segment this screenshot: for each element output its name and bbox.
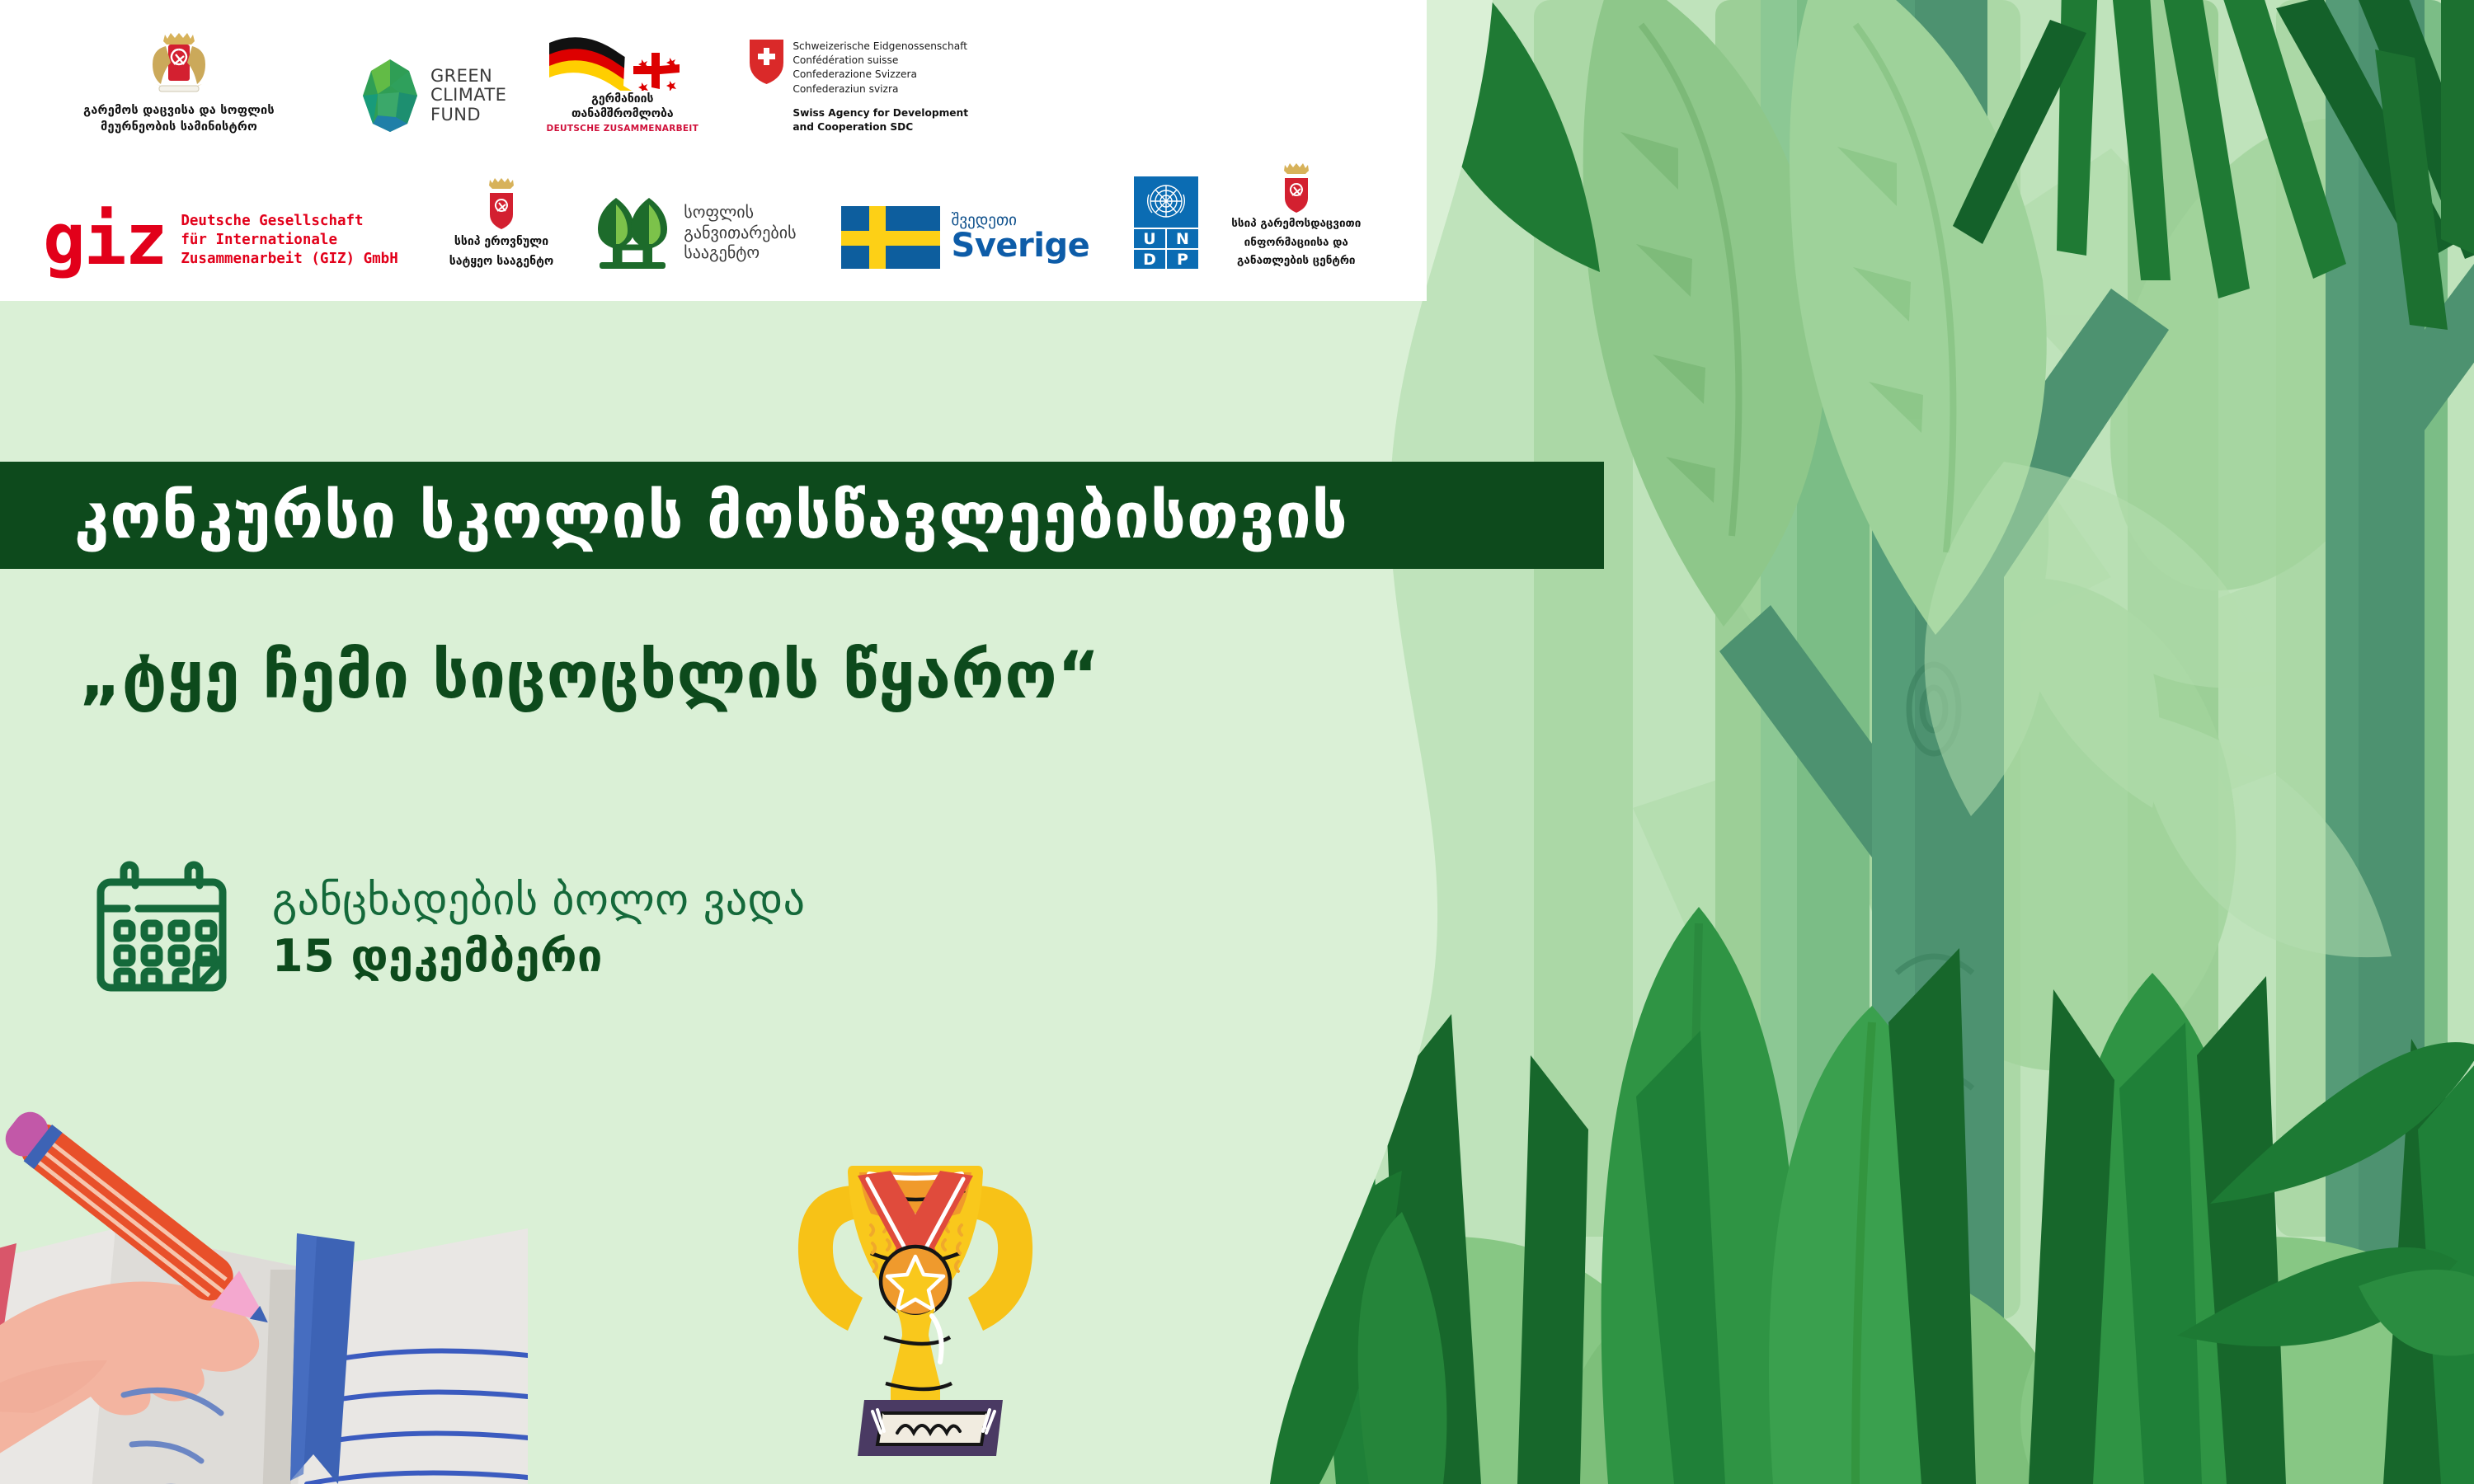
svg-text:U: U — [1144, 230, 1156, 248]
gcf-line3: FUND — [430, 106, 506, 125]
giz-line1: Deutsche Gesellschaft — [181, 212, 397, 231]
georgia-crest-small-icon — [1280, 162, 1313, 213]
deadline-label: განცხადების ბოლო ვადა — [272, 876, 806, 925]
swiss-line4: Confederaziun svizra — [793, 82, 968, 96]
swiss-line3: Confederazione Svizzera — [793, 68, 968, 82]
green-gem-icon — [360, 58, 421, 134]
logo-row-2: giz Deutsche Gesellschaft für Internatio… — [43, 162, 1361, 269]
svg-text:D: D — [1143, 251, 1156, 269]
logo-undp: UN DP — [1134, 176, 1198, 269]
georgia-coat-of-arms-icon — [143, 26, 215, 101]
rda-line3: სააგენტო — [684, 242, 796, 262]
sdc-line2: and Cooperation SDC — [793, 120, 968, 134]
rda-line1: სოფლის — [684, 202, 796, 222]
rda-line2: განვითარების — [684, 223, 796, 242]
ministry-label-line2: მეურნეობის სამინისტრო — [101, 120, 257, 134]
logo-swiss-confederation: Schweizerische Eidgenossenschaft Confédé… — [750, 40, 968, 134]
giz-line3: Zusammenarbeit (GIZ) GmbH — [181, 250, 397, 269]
logo-ministry-of-environmental-protection: გარემოს დაცვისა და სოფლის მეურნეობის სამ… — [43, 26, 315, 134]
giz-wordmark: giz — [43, 212, 166, 269]
gcf-line2: CLIMATE — [430, 86, 506, 106]
eiec-line2: ინფორმაციისა და — [1244, 236, 1348, 251]
logo-rural-development-agency: სოფლის განვითარების სააგენტო — [595, 196, 796, 269]
nfa-line2: სატყეო სააგენტო — [449, 254, 554, 269]
german-coop-subtitle: DEUTSCHE ZUSAMMENARBEIT — [547, 124, 699, 134]
trees-house-icon — [595, 196, 670, 269]
swedish-flag-icon — [841, 206, 940, 269]
german-georgian-flag-wave-icon — [546, 31, 698, 91]
german-coop-line2: თანამშრომლობა — [571, 107, 674, 121]
swiss-line1: Schweizerische Eidgenossenschaft — [793, 40, 968, 54]
logo-german-cooperation: გერმანიის თანამშრომლობა DEUTSCHE ZUSAMME… — [546, 31, 698, 134]
logo-national-forestry-agency: სსიპ ეროვნული სატყეო სააგენტო — [449, 176, 554, 269]
eiec-line3: განათლების ცენტრი — [1237, 254, 1356, 269]
contest-theme-subtitle: „ტყე ჩემი სიცოცხლის წყარო“ — [79, 639, 1100, 713]
headline-band: კონკურსი სკოლის მოსწავლეებისთვის — [0, 462, 1604, 569]
swiss-line2: Confédération suisse — [793, 54, 968, 68]
rda-name: სოფლის განვითარების სააგენტო — [684, 202, 796, 262]
giz-fullname: Deutsche Gesellschaft für Internationale… — [181, 212, 397, 269]
sverige-wordmark: Sverige — [952, 228, 1090, 263]
georgia-crest-small-icon — [484, 176, 519, 229]
nfa-line1: სსიპ ეროვნული — [454, 234, 548, 249]
partner-logo-bar: გარემოს დაცვისა და სოფლის მეურნეობის სამ… — [0, 0, 1427, 301]
german-coop-line1: გერმანიის — [591, 92, 653, 106]
svg-text:N: N — [1176, 230, 1189, 248]
deadline-date: 15 დეკემბერი — [272, 930, 806, 982]
calendar-icon — [91, 857, 233, 999]
poster-canvas: გარემოს დაცვისა და სოფლის მეურნეობის სამ… — [0, 0, 2474, 1484]
logo-environmental-information-education-centre: სსიპ გარემოსდაცვითი ინფორმაციისა და განა… — [1231, 162, 1361, 269]
logo-giz: giz Deutsche Gesellschaft für Internatio… — [43, 212, 398, 269]
swiss-shield-icon — [750, 40, 783, 84]
eiec-line1: სსიპ გარემოსდაცვითი — [1231, 217, 1361, 232]
trophy-illustration — [767, 1146, 1064, 1484]
deadline-block: განცხადების ბოლო ვადა 15 დეკემბერი — [91, 857, 806, 999]
svg-text:P: P — [1177, 251, 1188, 269]
logo-sweden: შვედეთი Sverige — [841, 206, 1090, 269]
gcf-line1: GREEN — [430, 67, 506, 87]
gcf-wordmark: GREEN CLIMATE FUND — [430, 67, 506, 125]
ministry-label-line1: გარემოს დაცვისა და სოფლის — [83, 104, 275, 117]
hand-writing-notebook-illustration — [0, 1022, 528, 1484]
giz-line2: für Internationale — [181, 231, 397, 250]
sdc-line1: Swiss Agency for Development — [793, 106, 968, 120]
logo-green-climate-fund: GREEN CLIMATE FUND — [360, 58, 506, 134]
un-emblem-icon: UN DP — [1134, 176, 1198, 269]
logo-row-1: გარემოს დაცვისა და სოფლის მეურნეობის სამ… — [43, 10, 968, 134]
page-title: კონკურსი სკოლის მოსწავლეებისთვის — [74, 479, 1348, 552]
sweden-georgian-label: შვედეთი — [952, 213, 1090, 228]
